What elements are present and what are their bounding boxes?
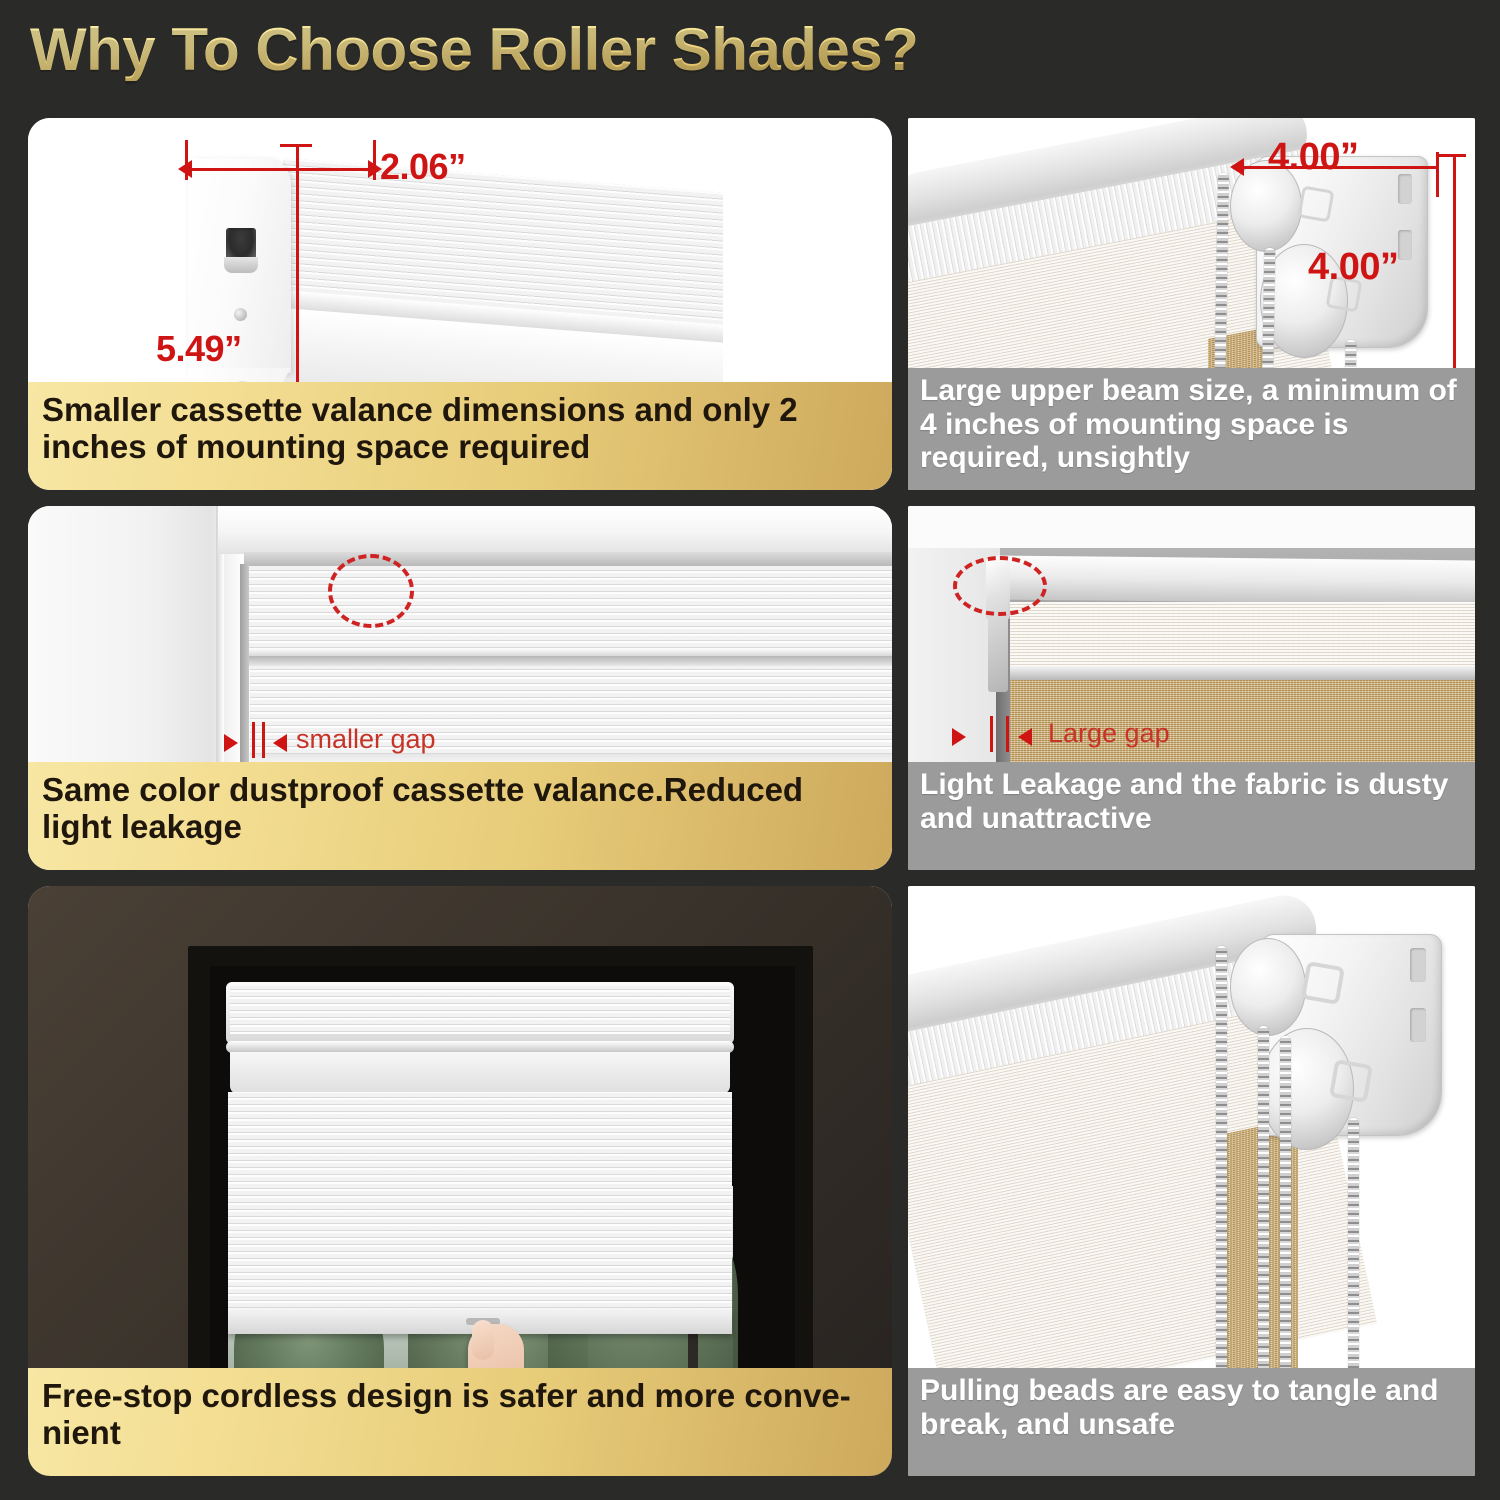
panel-caption-light-leakage: Light Leakage and the fabric is dusty an… [908, 762, 1475, 870]
smaller-gap-label: smaller gap [296, 724, 436, 755]
large-gap-label: Large gap [1048, 718, 1170, 749]
bracket-lip [224, 257, 258, 273]
gap-tick-2 [262, 722, 265, 758]
bracket-slot-top-icon [1398, 174, 1412, 204]
beam-height-top-tick [1438, 154, 1466, 157]
beam-height-label: 4.00” [1308, 246, 1398, 289]
gap-tick-1 [252, 722, 255, 758]
bracket-logo-icon [1301, 961, 1345, 1005]
bead-chain-3 [1280, 1036, 1291, 1376]
bracket-slot-bottom-icon [1398, 230, 1412, 260]
gap-tick-1 [990, 716, 993, 752]
panel-caption-dustproof-valance: Same color dustproof cassette valance.Re… [28, 762, 892, 870]
bottom-rail-line [1000, 666, 1475, 680]
highlight-circle-icon [328, 554, 414, 628]
beam-width-label: 4.00” [1268, 136, 1358, 179]
width-dim-arrow-left [178, 160, 192, 178]
bracket-logo-icon-2 [1329, 1059, 1373, 1103]
height-dimension-label: 5.49” [156, 328, 242, 370]
panel-pulling-beads: Pulling beads are easy to tangle and bre… [908, 886, 1475, 1476]
panel-caption-cassette-dimensions: Smaller cassette valance dimensions and … [28, 382, 892, 490]
thumb-graphic [472, 1320, 494, 1360]
valance-shadow-line [244, 656, 892, 666]
bead-chain-2 [1258, 1026, 1269, 1376]
highlight-circle-icon [953, 556, 1047, 616]
panel-large-upper-beam: 4.00” 4.00” Large upper beam size, a min… [908, 118, 1475, 490]
panel-dustproof-valance: smaller gap Same color dustproof cassett… [28, 506, 892, 870]
panel-light-leakage: Large gap Light Leakage and the fabric i… [908, 506, 1475, 870]
beam-width-arrow-left [1230, 158, 1244, 176]
beam-height-dim-line [1453, 154, 1456, 376]
gap-arrow-left [952, 728, 966, 746]
window-frame-header [218, 506, 892, 554]
panel-caption-cordless-design: Free-stop cordless design is safer and m… [28, 1368, 892, 1476]
bead-chain-4 [1348, 1118, 1359, 1376]
width-dimension-label: 2.06” [380, 146, 466, 188]
panel-cordless-design: Free-stop cordless design is safer and m… [28, 886, 892, 1476]
bracket-slot-bottom-icon [1410, 1008, 1426, 1042]
comparison-grid: 2.06” 5.49” Smaller cassette valance dim… [0, 0, 1500, 1500]
panel-caption-pulling-beads: Pulling beads are easy to tangle and bre… [908, 1368, 1475, 1476]
bracket-slot-top-icon [1410, 948, 1426, 982]
gap-arrow-left [224, 734, 238, 752]
gap-arrow-right [1018, 728, 1032, 746]
bead-chain-1 [1216, 946, 1227, 1376]
shade-fabric-main [228, 1092, 732, 1310]
bracket-logo-icon [1297, 185, 1334, 222]
width-dim-line [187, 168, 373, 171]
cassette-fabric-face [230, 986, 730, 1034]
cassette-roll [230, 1052, 730, 1094]
panel-caption-large-upper-beam: Large upper beam size, a minimum of 4 in… [908, 368, 1475, 490]
height-dim-top-tick [280, 144, 312, 147]
panel-cassette-dimensions: 2.06” 5.49” Smaller cassette valance dim… [28, 118, 892, 490]
beam-width-right-tick [1436, 152, 1439, 197]
gap-tick-2 [1006, 716, 1009, 752]
cream-fabric-band [1008, 602, 1475, 670]
roller-end-cap-upper [1230, 938, 1306, 1036]
screw-head-icon [234, 308, 247, 321]
ceiling-strip [908, 506, 1475, 548]
headrail-bar [996, 555, 1475, 604]
gap-arrow-right [273, 734, 287, 752]
